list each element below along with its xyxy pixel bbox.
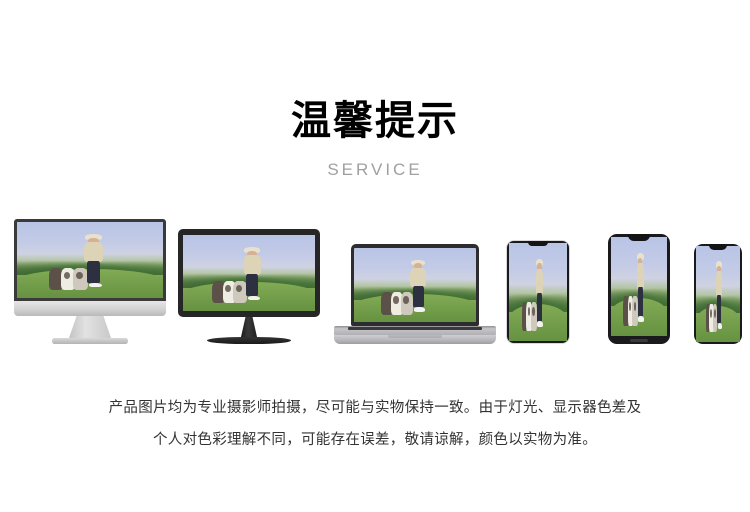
phone-home-button[interactable] bbox=[630, 339, 648, 342]
device-monitor bbox=[178, 229, 320, 344]
wallpaper-person bbox=[536, 259, 544, 328]
phone-1-frame bbox=[506, 240, 570, 344]
wallpaper-person bbox=[244, 247, 261, 300]
phone-2-frame bbox=[608, 234, 670, 344]
service-notice-page: 温馨提示 SERVICE bbox=[0, 0, 750, 512]
device-phone-2 bbox=[608, 234, 670, 344]
apple-logo-icon bbox=[86, 304, 94, 313]
person-jacket bbox=[244, 255, 261, 275]
laptop-base-front bbox=[334, 335, 496, 344]
monitor-stand-base bbox=[207, 337, 291, 344]
laptop-keyboard bbox=[348, 327, 482, 330]
person-shoe bbox=[638, 316, 643, 322]
imac-stand-base bbox=[52, 338, 128, 344]
device-showcase bbox=[0, 214, 750, 344]
monitor-screen-bezel bbox=[178, 229, 320, 317]
person-pants bbox=[537, 293, 542, 322]
person-pants bbox=[717, 295, 721, 323]
wallpaper-person bbox=[84, 234, 103, 287]
person-shoe bbox=[89, 283, 103, 288]
laptop-screen-lid bbox=[351, 244, 479, 326]
person-shoe bbox=[537, 321, 542, 327]
person-jacket bbox=[637, 263, 644, 289]
person-pants bbox=[638, 287, 643, 316]
person-jacket bbox=[410, 268, 426, 288]
laptop-trackpad bbox=[388, 335, 442, 338]
phone-notch-icon bbox=[709, 244, 727, 250]
laptop-keyboard-deck bbox=[334, 326, 496, 335]
person-jacket bbox=[716, 271, 722, 297]
page-title: 温馨提示 bbox=[0, 96, 750, 146]
person-jacket bbox=[536, 269, 544, 295]
phone-2-screen bbox=[611, 237, 667, 336]
device-phone-1 bbox=[506, 240, 570, 344]
page-subtitle: SERVICE bbox=[0, 160, 750, 180]
disclaimer-line-2: 个人对色彩理解不同，可能存在误差，敬请谅解，颜色以实物为准。 bbox=[0, 424, 750, 456]
imac-stand-neck bbox=[69, 316, 111, 338]
disclaimer-text: 产品图片均为专业摄影师拍摄，尽可能与实物保持一致。由于灯光、显示器色差及 个人对… bbox=[0, 392, 750, 456]
phone-notch-icon bbox=[628, 234, 650, 241]
imac-chin bbox=[14, 301, 166, 316]
monitor-wallpaper bbox=[183, 235, 315, 311]
person-shoe bbox=[414, 307, 425, 312]
phone-1-screen bbox=[509, 243, 567, 341]
monitor-stand-neck bbox=[241, 317, 257, 337]
person-pants bbox=[413, 286, 424, 308]
device-laptop bbox=[334, 244, 496, 344]
wallpaper-person bbox=[410, 260, 426, 312]
phone-3-frame bbox=[694, 244, 742, 344]
person-pants bbox=[246, 274, 258, 296]
device-phone-3 bbox=[694, 244, 742, 344]
wallpaper-person bbox=[716, 261, 722, 328]
person-jacket bbox=[84, 242, 103, 262]
header: 温馨提示 SERVICE bbox=[0, 96, 750, 180]
disclaimer-line-1: 产品图片均为专业摄影师拍摄，尽可能与实物保持一致。由于灯光、显示器色差及 bbox=[0, 392, 750, 424]
person-shoe bbox=[718, 323, 722, 329]
imac-wallpaper bbox=[17, 222, 163, 298]
phone-3-wallpaper bbox=[696, 246, 740, 342]
wallpaper-dogs bbox=[381, 292, 414, 314]
phone-1-wallpaper bbox=[509, 243, 567, 341]
wallpaper-dogs bbox=[212, 281, 248, 304]
phone-notch-icon bbox=[528, 241, 548, 246]
laptop-wallpaper bbox=[354, 248, 476, 322]
person-pants bbox=[87, 261, 100, 283]
wallpaper-dogs bbox=[49, 268, 88, 291]
person-shoe bbox=[248, 296, 260, 301]
phone-3-screen bbox=[696, 246, 740, 342]
device-imac bbox=[14, 219, 166, 344]
wallpaper-person bbox=[637, 253, 644, 322]
imac-screen-bezel bbox=[14, 219, 166, 301]
phone-2-wallpaper bbox=[611, 237, 667, 336]
